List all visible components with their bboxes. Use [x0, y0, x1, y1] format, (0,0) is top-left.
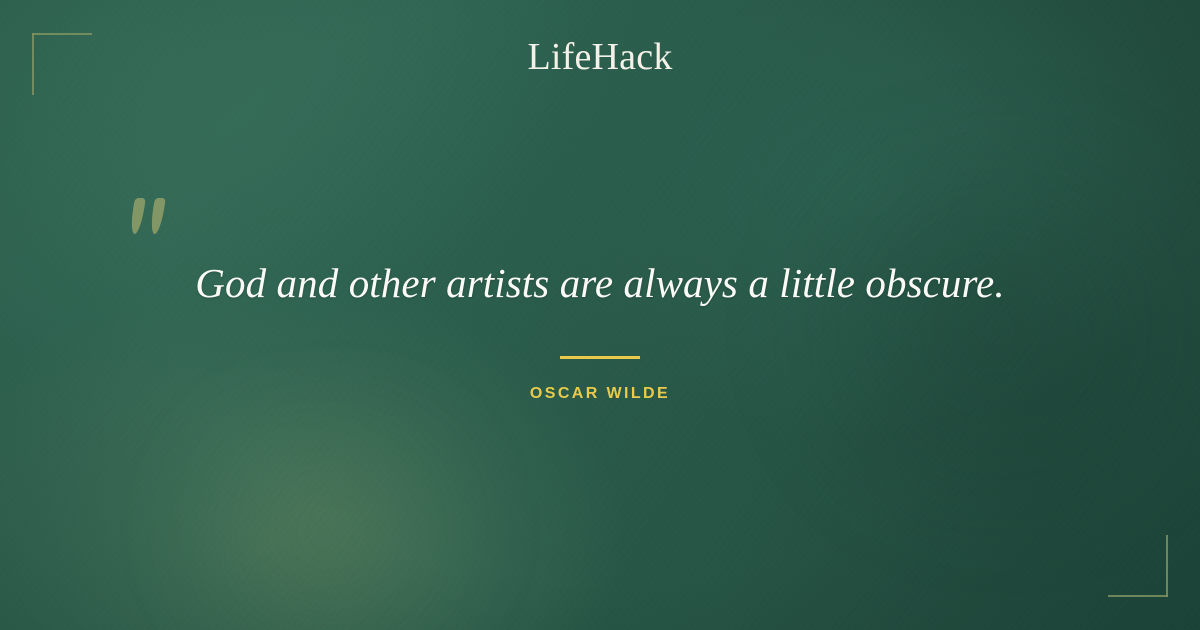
gold-divider-rule	[560, 356, 640, 359]
corner-bracket-horizontal-line	[1108, 595, 1168, 597]
quote-block: God and other artists are always a littl…	[100, 258, 1100, 403]
quote-author: OSCAR WILDE	[100, 385, 1100, 403]
quote-card-canvas: LifeHack God and other artists are alway…	[0, 0, 1200, 630]
corner-bracket-horizontal-line	[32, 33, 92, 35]
corner-bracket-vertical-line	[1166, 535, 1168, 597]
double-quote-mark-icon	[128, 198, 176, 244]
corner-bracket-bottom-right-icon	[1108, 535, 1168, 597]
quote-mark-stroke-left	[129, 198, 146, 234]
quote-text: God and other artists are always a littl…	[100, 258, 1100, 310]
quote-mark-stroke-right	[149, 198, 166, 234]
brand-logo: LifeHack	[0, 38, 1200, 76]
